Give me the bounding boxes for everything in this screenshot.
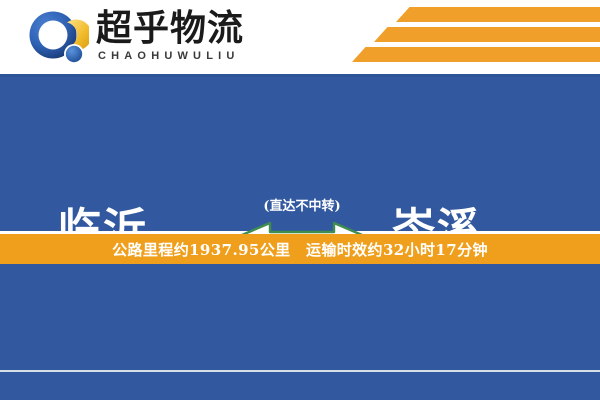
stripe-2 bbox=[374, 27, 600, 42]
bottom-divider bbox=[0, 370, 600, 372]
stripe-3 bbox=[352, 47, 600, 62]
coverage-section: 岑城镇、马路镇、南渡镇、水汶镇、大隆镇、梨木镇、大业镇、筋竹镇、诚谏镇、归义镇、… bbox=[0, 264, 600, 400]
brand-name-en: CHAOHUWULIU bbox=[98, 50, 240, 62]
circle-q-logo-icon bbox=[27, 10, 89, 68]
logistics-route-poster: 超乎物流 CHAOHUWULIU 临沂 (直达不中转) 【往返运输】 岑溪 公路… bbox=[0, 0, 600, 400]
orange-speed-stripes-icon bbox=[330, 5, 600, 67]
brand-name-cn: 超乎物流 bbox=[96, 7, 244, 49]
distance-duration-bar: 公路里程约1937.95公里 运输时效约32小时17分钟 bbox=[0, 234, 600, 264]
poster-header: 超乎物流 CHAOHUWULIU bbox=[0, 0, 600, 74]
route-section: 临沂 (直达不中转) 【往返运输】 岑溪 bbox=[0, 77, 600, 231]
direct-service-note: (直达不中转) bbox=[232, 195, 372, 214]
stripe-1 bbox=[396, 7, 600, 22]
distance-duration-text: 公路里程约1937.95公里 运输时效约32小时17分钟 bbox=[112, 239, 488, 260]
